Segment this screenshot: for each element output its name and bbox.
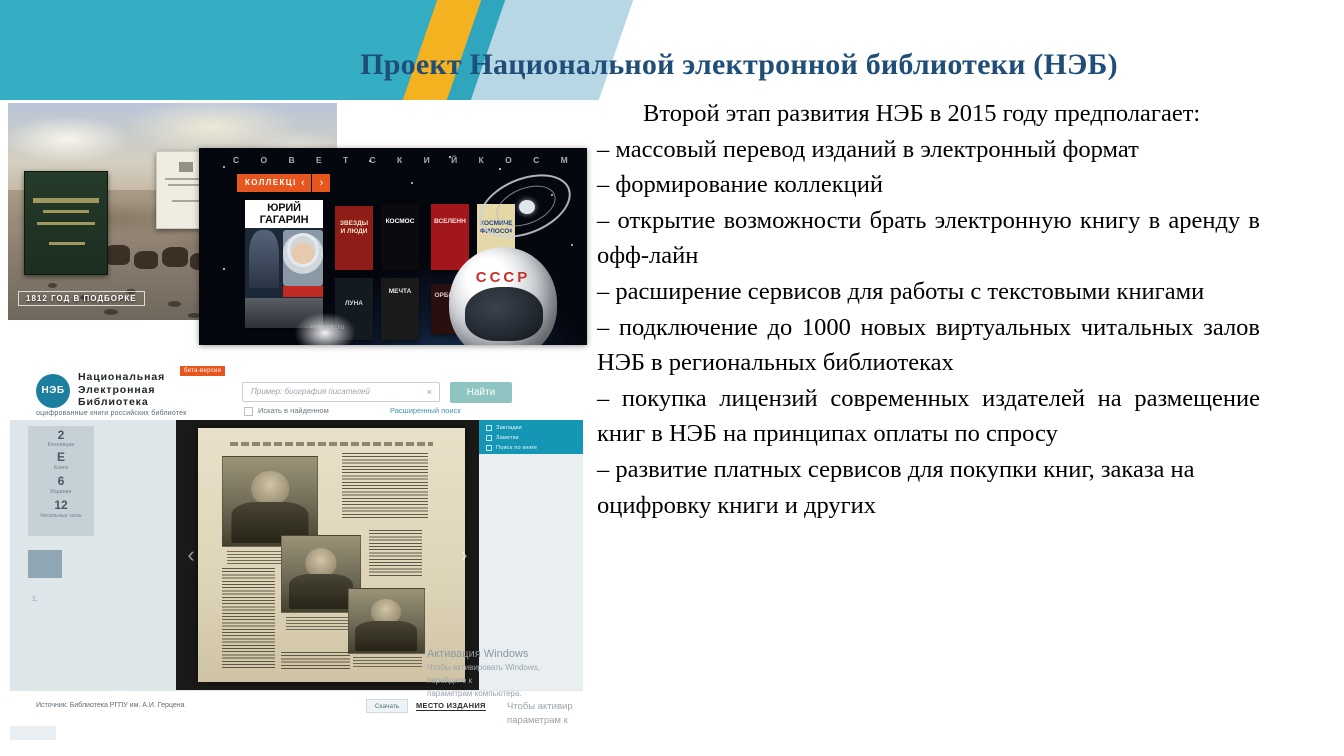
- helmet-rim-icon: [287, 233, 319, 267]
- cover-red-band: [283, 286, 323, 297]
- page-text-column: [281, 652, 350, 670]
- star-icon: [571, 244, 573, 246]
- clear-icon[interactable]: ×: [427, 387, 432, 397]
- satellite-core-icon: [519, 200, 535, 214]
- side-menu-item-notes[interactable]: Заметки: [484, 433, 583, 443]
- watermark-overlay-line2: параметрам к: [507, 714, 597, 728]
- watermark-line1: Чтобы активировать Windows, перейдите к: [427, 661, 577, 687]
- gagarin-cover-title: ЮРИЙ ГАГАРИН: [245, 202, 323, 226]
- cover-label: ЛУНА: [338, 300, 370, 308]
- neb-left-panel: 2 Коллекции Е Книги 6 Издания 12 Читальн…: [10, 420, 200, 690]
- photo-caption-lines: [353, 657, 422, 668]
- stat-value: 2: [28, 428, 94, 442]
- scanned-book-page: [198, 428, 465, 682]
- search-placeholder: Пример: биография писателей: [251, 387, 370, 396]
- side-menu-item-search-in-book[interactable]: Поиск по книге: [484, 443, 583, 453]
- stat-label: Издания: [28, 489, 94, 495]
- book-cover-thumb[interactable]: ВСЕЛЕННАЯ: [431, 204, 469, 270]
- body-paragraph: Второй этап развития НЭБ в 2015 году пре…: [597, 96, 1260, 132]
- neb-logo[interactable]: НЭБ: [36, 374, 70, 408]
- windows-activation-watermark: Активация Windows Чтобы активировать Win…: [427, 648, 577, 700]
- painting-cavalry: [162, 247, 188, 267]
- neb-header: НЭБ Национальная Электронная Библиотека …: [10, 362, 583, 420]
- side-menu-label: Поиск по книге: [496, 445, 537, 451]
- neb-subtitle: оцифрованные книги российских библиотек: [36, 410, 187, 417]
- portrait-face: [251, 471, 289, 505]
- filter-chip[interactable]: [28, 550, 62, 578]
- advanced-search-link[interactable]: Расширенный поиск: [390, 406, 461, 415]
- cover-label: ВСЕЛЕННАЯ: [434, 218, 466, 226]
- page-text-column: [222, 568, 275, 670]
- soviet-space-collection-image: С О В Е Т С К И Й К О С М О С КОЛЛЕКЦИИ …: [199, 148, 587, 345]
- painting-cavalry: [134, 251, 158, 269]
- search-in-results-label: Искать в найденном: [258, 406, 329, 415]
- star-icon: [223, 166, 225, 168]
- reader-side-menu: Закладки Заметки Поиск по книге: [479, 420, 583, 454]
- search-in-results-checkbox[interactable]: [244, 407, 253, 416]
- bookmark-icon: [486, 425, 492, 431]
- page-title: Проект Национальной электронной библиоте…: [0, 48, 1344, 82]
- body-paragraph: – подключение до 1000 новых виртуальных …: [597, 310, 1260, 381]
- painting-detail: [104, 309, 118, 315]
- find-button[interactable]: Найти: [450, 382, 512, 403]
- body-paragraph: – открытие возможности брать электронную…: [597, 203, 1260, 274]
- body-paragraph: – покупка лицензий современных издателей…: [597, 381, 1260, 452]
- stat-value: Е: [28, 450, 94, 464]
- note-icon: [486, 435, 492, 441]
- page-header-rule: [230, 442, 433, 446]
- portrait-face: [305, 548, 336, 577]
- neb-title-line3: Библиотека: [78, 396, 165, 409]
- space-collection-title: С О В Е Т С К И Й К О С М О С: [233, 155, 587, 165]
- source-label: Источник: Библиотека РГПУ им. А.И. Герце…: [36, 702, 185, 709]
- book-card-velikiy-albom[interactable]: [24, 171, 108, 275]
- neb-title-line1: Национальная: [78, 371, 165, 384]
- book-cover-thumb[interactable]: КОСМОС: [381, 204, 419, 270]
- prev-page-icon[interactable]: ‹: [180, 544, 202, 566]
- book-cover-thumb[interactable]: МЕЧТА: [381, 278, 419, 340]
- cosmonaut-helmet: СССР: [449, 247, 557, 345]
- painting-detail: [48, 283, 57, 288]
- space-watermark: rusneb.ru: [311, 324, 345, 331]
- portrait-photo: [348, 588, 425, 654]
- stat-label: Книги: [28, 465, 94, 471]
- side-menu-item-bookmarks[interactable]: Закладки: [484, 423, 583, 433]
- watermark-overlay-line1: Чтобы активир: [507, 700, 597, 714]
- portrait-face: [371, 599, 401, 623]
- portrait-photo: [222, 456, 318, 547]
- slide-root: Проект Национальной электронной библиоте…: [0, 0, 1344, 756]
- body-paragraph: – расширение сервисов для работы с текст…: [597, 274, 1260, 310]
- cover-label: КОСМОС: [384, 218, 416, 226]
- photo-caption-lines: [286, 617, 355, 630]
- body-paragraph: – формирование коллекций: [597, 167, 1260, 203]
- helmet-visor: [465, 287, 543, 341]
- borodino-caption: 1812 ГОД В ПОДБОРКЕ: [18, 291, 145, 306]
- star-icon: [411, 182, 413, 184]
- download-button[interactable]: Скачать: [366, 699, 408, 713]
- portrait-uniform: [289, 574, 353, 609]
- watermark-title: Активация Windows: [427, 648, 577, 661]
- body-paragraph: – развитие платных сервисов для покупки …: [597, 452, 1260, 523]
- beta-badge: бета-версия: [180, 366, 225, 376]
- cover-label: ЗВЁЗДЫ И ЛЮДИ: [338, 220, 370, 235]
- painting-detail: [168, 301, 181, 307]
- side-menu-label: Закладки: [496, 425, 522, 431]
- search-icon: [486, 445, 492, 451]
- stat-value: 12: [28, 498, 94, 512]
- neb-site-title: Национальная Электронная Библиотека: [78, 371, 165, 409]
- stat-value: 6: [28, 474, 94, 488]
- helmet-cccp-text: СССР: [449, 269, 557, 286]
- next-arrow-icon[interactable]: ›: [313, 174, 330, 192]
- star-icon: [499, 168, 501, 170]
- windows-activation-overlay: Чтобы активир параметрам к: [507, 700, 597, 728]
- page-text-column: [342, 453, 427, 519]
- neb-title-line2: Электронная: [78, 384, 165, 397]
- rocket-illustration: [249, 230, 279, 288]
- book-cover-gagarin[interactable]: ЮРИЙ ГАГАРИН: [245, 200, 323, 328]
- star-icon: [223, 268, 225, 270]
- place-of-publication-label: МЕСТО ИЗДАНИЯ: [416, 701, 486, 711]
- search-input[interactable]: Пример: биография писателей ×: [242, 382, 440, 402]
- cover-label: МЕЧТА: [384, 288, 416, 296]
- side-menu-label: Заметки: [496, 435, 519, 441]
- book-cover-thumb[interactable]: ЗВЁЗДЫ И ЛЮДИ: [335, 206, 373, 270]
- next-page-icon[interactable]: ›: [453, 544, 475, 566]
- page-text-column: [369, 530, 422, 578]
- stat-label: Коллекции: [28, 442, 94, 448]
- list-item[interactable]: 1.: [32, 596, 38, 603]
- slide-body-text: Второй этап развития НЭБ в 2015 году пре…: [597, 96, 1260, 523]
- portrait-uniform: [355, 621, 417, 650]
- stats-box: 2 Коллекции Е Книги 6 Издания 12 Читальн…: [28, 426, 94, 536]
- watermark-line2: параметрам компьютера.: [427, 687, 577, 700]
- stat-label: Читальные залы: [28, 513, 94, 519]
- body-paragraph: – массовый перевод изданий в электронный…: [597, 132, 1260, 168]
- prev-arrow-icon[interactable]: ‹: [295, 174, 312, 192]
